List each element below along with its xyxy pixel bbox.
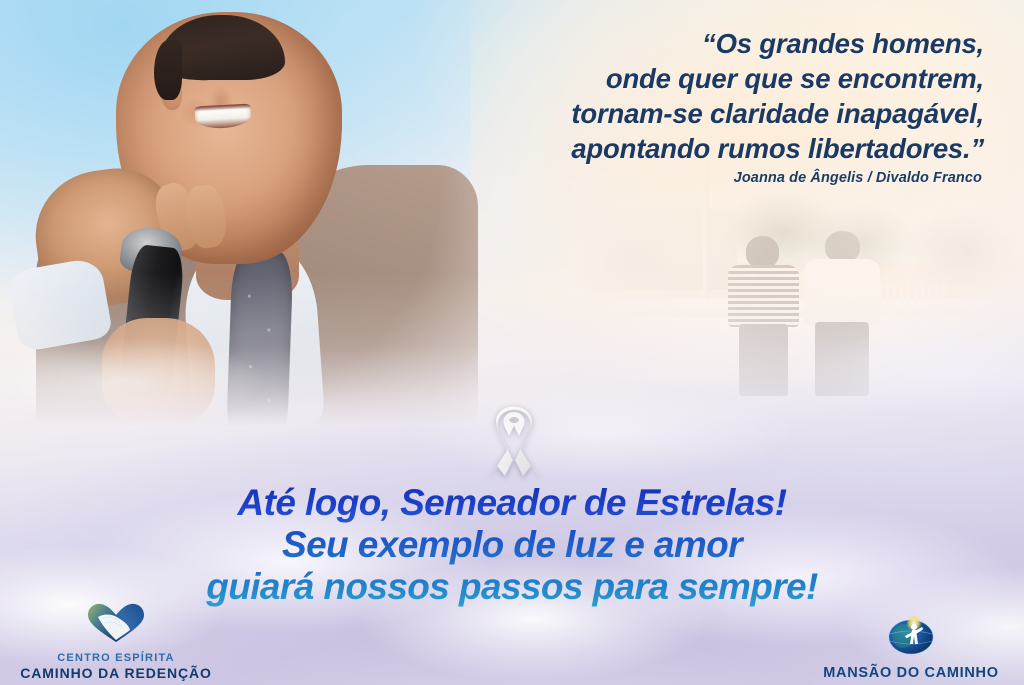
globe-figure-light-logo-icon [806,614,1016,663]
logo-centro-espirita-caminho-da-redencao: CENTRO ESPÍRITA CAMINHO DA REDENÇÃO [6,601,226,681]
memorial-poster: “Os grandes homens, onde quer que se enc… [0,0,1024,685]
background-photo-two-men-walking [575,150,1024,420]
quote-line-4: apontando rumos libertadores.” [424,131,984,166]
quote-line-1: “Os grandes homens, [424,26,984,61]
logo-right-line-2: MANSÃO DO CAMINHO [806,665,1016,681]
white-awareness-ribbon-icon [485,404,543,482]
portrait-divaldo-franco [8,0,478,444]
necktie [225,249,293,458]
logo-left-line-1: CENTRO ESPÍRITA [6,652,226,665]
headline-line-1: Até logo, Semeador de Estrelas! [0,482,1024,524]
heart-hands-logo-icon [6,601,226,650]
headline-block: Até logo, Semeador de Estrelas! Seu exem… [0,482,1024,608]
quote-attribution: Joanna de Ângelis / Divaldo Franco [422,170,982,186]
logo-left-line-2: CAMINHO DA REDENÇÃO [6,665,226,681]
quote-block: “Os grandes homens, onde quer que se enc… [424,26,984,166]
quote-line-3: tornam-se claridade inapagável, [424,96,984,131]
headline-line-2: Seu exemplo de luz e amor [0,524,1024,566]
logo-mansao-do-caminho: MANSÃO DO CAMINHO [806,614,1016,681]
quote-line-2: onde quer que se encontrem, [424,61,984,96]
